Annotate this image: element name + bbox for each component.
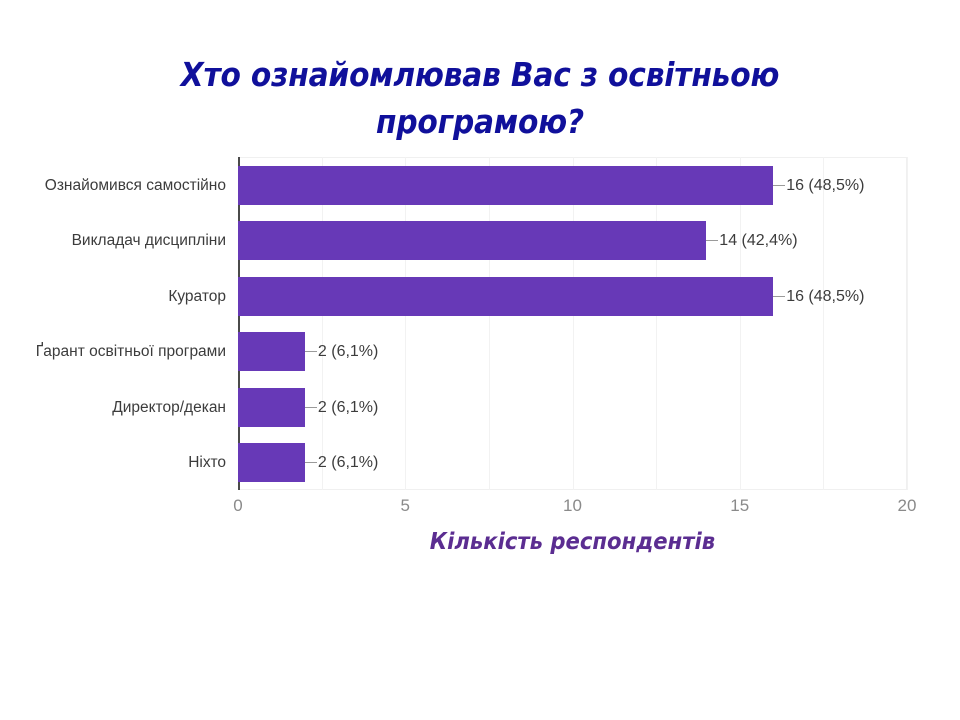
bar[interactable] bbox=[238, 332, 305, 371]
category-label: Директор/декан bbox=[112, 388, 226, 427]
bar-chart: Ознайомився самостійно16 (48,5%)Викладач… bbox=[0, 148, 960, 508]
bar-group: Директор/декан2 (6,1%) bbox=[238, 379, 907, 435]
category-label: Куратор bbox=[168, 277, 226, 316]
bar-value-label: 14 (42,4%) bbox=[719, 221, 797, 260]
data-label-leader-line bbox=[305, 462, 317, 463]
bar[interactable] bbox=[238, 277, 773, 316]
data-label-leader-line bbox=[305, 407, 317, 408]
chart-title: Хто ознайомлював Вас з освітньою програм… bbox=[102, 52, 858, 146]
category-label: Ознайомився самостійно bbox=[45, 166, 226, 205]
category-label: Викладач дисципліни bbox=[72, 221, 226, 260]
x-tick-label: 0 bbox=[233, 496, 242, 516]
x-tick-label: 10 bbox=[563, 496, 582, 516]
slide-canvas: Хто ознайомлював Вас з освітньою програм… bbox=[0, 0, 960, 720]
data-label-leader-line bbox=[305, 351, 317, 352]
bar-group: Ознайомився самостійно16 (48,5%) bbox=[238, 157, 907, 213]
data-label-leader-line bbox=[706, 240, 718, 241]
category-label: Ґарант освітньої програми bbox=[8, 332, 226, 371]
bar-value-label: 16 (48,5%) bbox=[786, 277, 864, 316]
bar-group: Викладач дисципліни14 (42,4%) bbox=[238, 213, 907, 269]
bar-value-label: 16 (48,5%) bbox=[786, 166, 864, 205]
x-tick-label: 15 bbox=[730, 496, 749, 516]
bar-group: Куратор16 (48,5%) bbox=[238, 268, 907, 324]
bar-value-label: 2 (6,1%) bbox=[318, 388, 378, 427]
bar-value-label: 2 (6,1%) bbox=[318, 443, 378, 482]
x-tick-label: 20 bbox=[898, 496, 917, 516]
gridline bbox=[907, 157, 908, 490]
data-label-leader-line bbox=[773, 296, 785, 297]
bar[interactable] bbox=[238, 443, 305, 482]
category-label: Ніхто bbox=[188, 443, 226, 482]
bar-value-label: 2 (6,1%) bbox=[318, 332, 378, 371]
x-tick-label: 5 bbox=[401, 496, 410, 516]
bar[interactable] bbox=[238, 166, 773, 205]
x-axis-title: Кількість респондентів bbox=[265, 529, 880, 555]
bar[interactable] bbox=[238, 388, 305, 427]
data-label-leader-line bbox=[773, 185, 785, 186]
bar[interactable] bbox=[238, 221, 706, 260]
bar-group: Ґарант освітньої програми2 (6,1%) bbox=[238, 324, 907, 380]
bar-group: Ніхто2 (6,1%) bbox=[238, 435, 907, 491]
